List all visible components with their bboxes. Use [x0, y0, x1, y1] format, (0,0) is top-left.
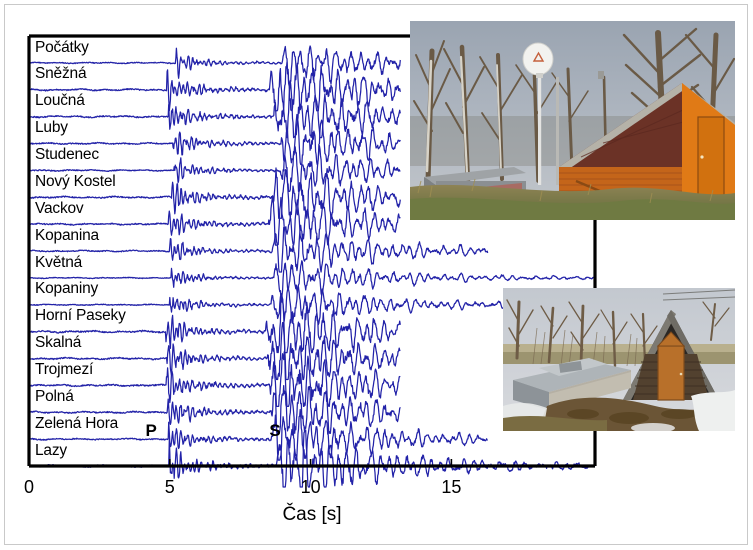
- station-label-vackov: Vackov: [35, 201, 83, 217]
- seismogram-trace: [29, 296, 400, 353]
- x-tick-label-0: 0: [24, 478, 34, 496]
- figure-root: PočátkySněžnáLoučnáLubyStudenecNový Kost…: [0, 0, 753, 550]
- phase-marker-s: S: [269, 422, 280, 439]
- station-label-kopaniny: Kopaniny: [35, 281, 98, 297]
- photo-station-lower: [503, 288, 735, 431]
- phase-marker-p: P: [145, 422, 156, 439]
- station-label-skalná: Skalná: [35, 335, 81, 351]
- station-label-sněžná: Sněžná: [35, 66, 86, 82]
- photo-station-upper: [410, 21, 735, 220]
- station-label-kopanina: Kopanina: [35, 228, 99, 244]
- station-label-trojmezí: Trojmezí: [35, 362, 93, 378]
- station-label-polná: Polná: [35, 389, 74, 405]
- station-label-studenec: Studenec: [35, 147, 99, 163]
- station-label-květná: Květná: [35, 255, 82, 271]
- station-label-lazy: Lazy: [35, 443, 67, 459]
- x-tick-label-15: 15: [441, 478, 461, 496]
- station-label-počátky: Počátky: [35, 40, 89, 56]
- station-label-loučná: Loučná: [35, 93, 85, 109]
- station-label-zelená-hora: Zelená Hora: [35, 416, 118, 432]
- x-tick-label-10: 10: [301, 478, 321, 496]
- station-label-nový-kostel: Nový Kostel: [35, 174, 116, 190]
- station-label-luby: Luby: [35, 120, 68, 136]
- station-label-horní-paseky: Horní Paseky: [35, 308, 126, 324]
- x-tick-label-5: 5: [165, 478, 175, 496]
- x-axis-title: Čas [s]: [282, 505, 341, 524]
